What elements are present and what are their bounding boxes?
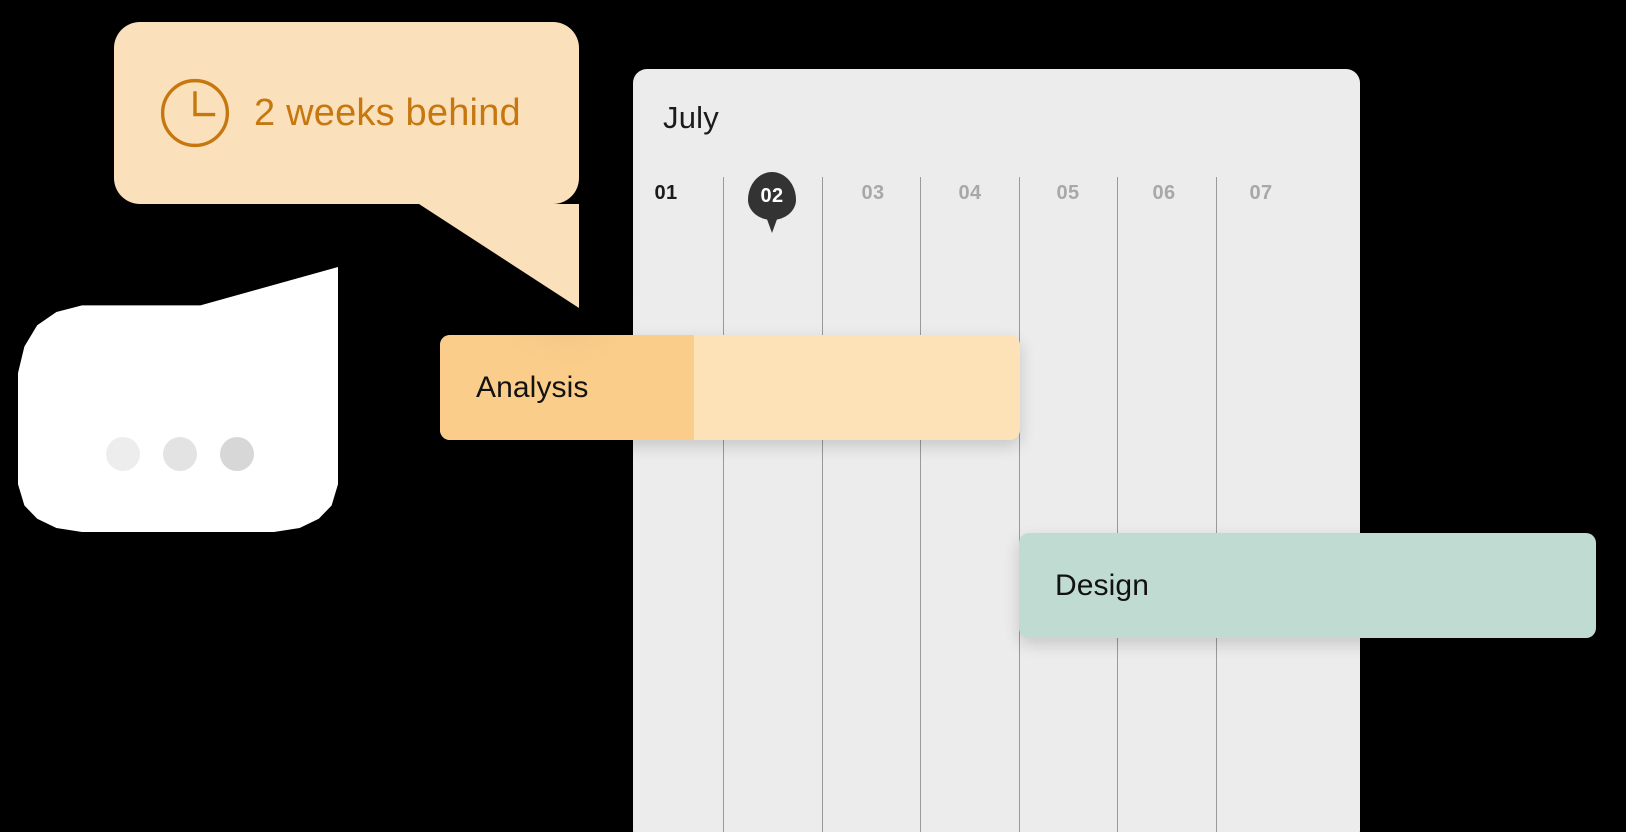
typing-dot-1 bbox=[106, 437, 140, 471]
alert-text: 2 weeks behind bbox=[254, 92, 521, 135]
gridline-day-02 bbox=[723, 177, 724, 832]
day-label-01[interactable]: 01 bbox=[633, 182, 715, 205]
gridline-day-07 bbox=[1216, 177, 1217, 832]
task-bar-design[interactable]: Design bbox=[1019, 533, 1596, 638]
selected-day-pin[interactable]: 02 bbox=[748, 172, 796, 234]
typing-dots bbox=[106, 437, 254, 471]
day-label-02: 02 bbox=[748, 172, 796, 220]
task-label-analysis: Analysis bbox=[440, 371, 589, 405]
gridline-day-05 bbox=[1019, 177, 1020, 832]
typing-speech-bubble[interactable] bbox=[18, 267, 338, 532]
task-bar-analysis[interactable]: Analysis bbox=[440, 335, 1020, 440]
bubble-tail-icon bbox=[419, 204, 579, 308]
day-label-03[interactable]: 03 bbox=[824, 182, 922, 205]
gridline-day-06 bbox=[1117, 177, 1118, 832]
typing-bubble-shape bbox=[18, 267, 338, 532]
task-label-design: Design bbox=[1019, 569, 1149, 603]
day-label-07[interactable]: 07 bbox=[1212, 182, 1310, 205]
canvas: July 01 02 03 04 05 06 07 Analysis bbox=[0, 0, 1626, 832]
typing-dot-2 bbox=[163, 437, 197, 471]
gridline-day-03 bbox=[822, 177, 823, 832]
day-grid: 01 02 03 04 05 06 07 bbox=[633, 69, 1360, 832]
gridline-day-04 bbox=[920, 177, 921, 832]
alert-speech-bubble[interactable]: 2 weeks behind bbox=[114, 22, 579, 204]
day-label-04[interactable]: 04 bbox=[921, 182, 1019, 205]
typing-dot-3 bbox=[220, 437, 254, 471]
gantt-panel: July 01 02 03 04 05 06 07 bbox=[633, 69, 1360, 832]
day-label-05[interactable]: 05 bbox=[1019, 182, 1117, 205]
clock-icon bbox=[158, 76, 232, 150]
day-label-06[interactable]: 06 bbox=[1115, 182, 1213, 205]
